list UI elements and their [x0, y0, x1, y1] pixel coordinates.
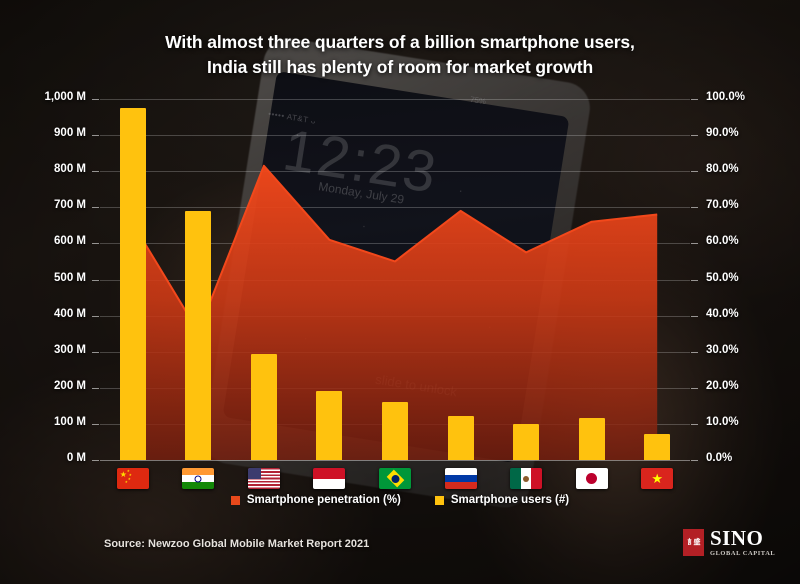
legend-label-penetration: Smartphone penetration (%): [247, 494, 401, 506]
legend-item-users[interactable]: Smartphone users (#): [435, 494, 569, 506]
right-axis-tick-label: 50.0%: [706, 272, 786, 284]
left-axis-tickmark: [92, 280, 99, 281]
legend-swatch-users: [435, 496, 444, 505]
bar-br[interactable]: [382, 402, 408, 460]
flag-icon-br[interactable]: [379, 468, 411, 489]
right-axis-tickmark: [691, 135, 698, 136]
bar-id[interactable]: [316, 391, 342, 460]
right-axis-tick-label: 80.0%: [706, 163, 786, 175]
right-axis-tick-label: 0.0%: [706, 452, 786, 464]
gridline: [100, 460, 690, 461]
seal-icon: 訁盛: [683, 529, 704, 556]
right-axis-tickmark: [691, 280, 698, 281]
right-axis-tick-label: 100.0%: [706, 91, 786, 103]
left-axis-tick-label: 600 M: [6, 235, 86, 247]
left-axis-tick-label: 500 M: [6, 272, 86, 284]
left-axis-tick-label: 700 M: [6, 199, 86, 211]
left-axis-tick-label: 1,000 M: [6, 91, 86, 103]
right-axis-tickmark: [691, 316, 698, 317]
left-axis-tickmark: [92, 460, 99, 461]
chart-title: With almost three quarters of a billion …: [0, 30, 800, 80]
left-axis-tick-label: 300 M: [6, 344, 86, 356]
chart-container: With almost three quarters of a billion …: [0, 0, 800, 584]
left-axis-tickmark: [92, 171, 99, 172]
right-axis-tick-label: 40.0%: [706, 308, 786, 320]
left-axis-tickmark: [92, 135, 99, 136]
sino-global-capital-logo: 訁盛 SINO GLOBAL CAPITAL: [683, 528, 775, 557]
right-axis-tick-label: 70.0%: [706, 199, 786, 211]
bar-mx[interactable]: [513, 424, 539, 460]
flag-icon-us[interactable]: [248, 468, 280, 489]
bar-in[interactable]: [185, 211, 211, 460]
logo-wordmark: SINO: [710, 528, 775, 549]
right-axis-tick-label: 20.0%: [706, 380, 786, 392]
flag-icon-ru[interactable]: [445, 468, 477, 489]
left-axis-tickmark: [92, 243, 99, 244]
right-axis-tickmark: [691, 424, 698, 425]
source-note: Source: Newzoo Global Mobile Market Repo…: [104, 538, 369, 550]
right-axis-tick-label: 90.0%: [706, 127, 786, 139]
left-axis-tickmark: [92, 316, 99, 317]
legend-item-penetration[interactable]: Smartphone penetration (%): [231, 494, 401, 506]
right-axis-tickmark: [691, 352, 698, 353]
left-axis-tick-label: 200 M: [6, 380, 86, 392]
right-axis-tickmark: [691, 171, 698, 172]
plot-area: [100, 99, 690, 460]
left-axis-tickmark: [92, 424, 99, 425]
right-axis-tickmark: [691, 460, 698, 461]
left-axis-tickmark: [92, 388, 99, 389]
right-axis-tickmark: [691, 99, 698, 100]
logo-tagline: GLOBAL CAPITAL: [710, 551, 775, 557]
left-axis-tick-label: 0 M: [6, 452, 86, 464]
left-axis-tick-label: 100 M: [6, 416, 86, 428]
bar-vn[interactable]: [644, 434, 670, 460]
bar-us[interactable]: [251, 354, 277, 460]
flag-icon-in[interactable]: [182, 468, 214, 489]
right-axis-tick-label: 10.0%: [706, 416, 786, 428]
left-axis-tick-label: 400 M: [6, 308, 86, 320]
flag-icon-jp[interactable]: [576, 468, 608, 489]
right-axis-tickmark: [691, 207, 698, 208]
legend-label-users: Smartphone users (#): [451, 494, 569, 506]
flag-icon-vn[interactable]: ★: [641, 468, 673, 489]
flag-icon-id[interactable]: [313, 468, 345, 489]
bar-ru[interactable]: [448, 416, 474, 460]
left-axis-tickmark: [92, 352, 99, 353]
left-axis-tick-label: 900 M: [6, 127, 86, 139]
right-axis-tick-label: 30.0%: [706, 344, 786, 356]
left-axis-tickmark: [92, 207, 99, 208]
legend-swatch-penetration: [231, 496, 240, 505]
flag-icon-cn[interactable]: ★★★★★: [117, 468, 149, 489]
right-axis-tick-label: 60.0%: [706, 235, 786, 247]
left-axis-tickmark: [92, 99, 99, 100]
right-axis-tickmark: [691, 388, 698, 389]
bar-cn[interactable]: [120, 108, 146, 460]
left-axis-tick-label: 800 M: [6, 163, 86, 175]
bar-jp[interactable]: [579, 418, 605, 460]
flag-icon-mx[interactable]: [510, 468, 542, 489]
chart-legend: Smartphone penetration (%) Smartphone us…: [0, 494, 800, 506]
right-axis-tickmark: [691, 243, 698, 244]
